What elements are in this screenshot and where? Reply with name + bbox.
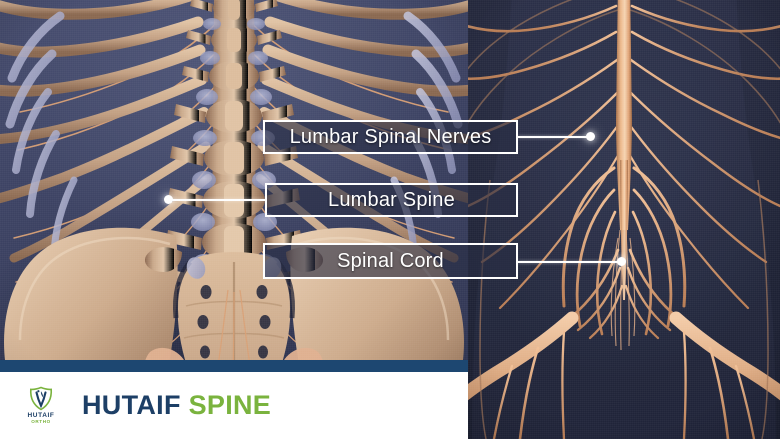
nervous-system-panel: [468, 0, 780, 439]
leader-dot-spinal-cord: [617, 257, 626, 266]
leader-line-lumbar-spinal-nerves: [518, 136, 590, 138]
hutaif-logo: HUTAIF ORTHO: [18, 383, 64, 429]
logo-name-sub: ORTHO: [31, 420, 51, 425]
brand-name-accent: SPINE: [189, 390, 272, 420]
illustration-canvas: Lumbar Spinal Nerves Lumbar Spine Spinal…: [0, 0, 780, 439]
brand-name-main: HUTAIF: [82, 390, 181, 420]
leader-line-spinal-cord: [518, 261, 622, 263]
leader-dot-lumbar-spine: [164, 195, 173, 204]
leader-line-lumbar-spine: [170, 199, 265, 201]
brand-accent-strip: [0, 360, 468, 372]
callout-lumbar-spinal-nerves: Lumbar Spinal Nerves: [263, 120, 518, 154]
leader-dot-lumbar-spinal-nerves: [586, 132, 595, 141]
shield-leaf-icon: [28, 386, 54, 412]
vertebra-t10: [190, 0, 278, 21]
nervous-system-illustration: [468, 0, 780, 439]
brand-bar: HUTAIF ORTHO HUTAIF SPINE: [0, 372, 468, 439]
brand-title: HUTAIF SPINE: [82, 390, 271, 421]
callout-lumbar-spine: Lumbar Spine: [265, 183, 518, 217]
callout-spinal-cord: Spinal Cord: [263, 243, 518, 279]
